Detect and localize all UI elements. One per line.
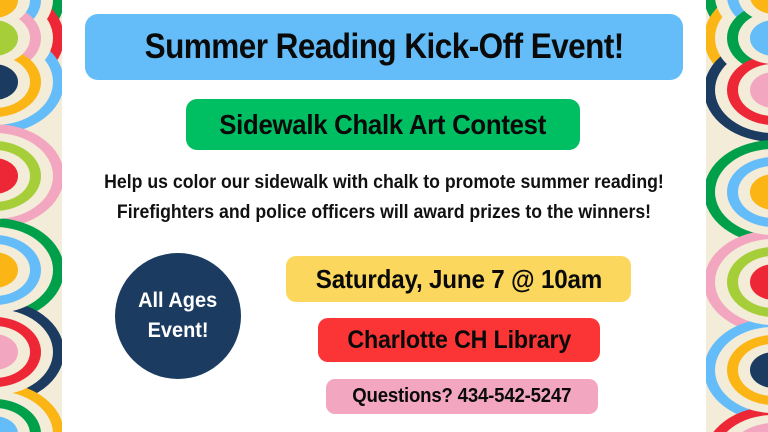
all-ages-badge-line-1: All Ages [138, 286, 217, 316]
event-title-text: Summer Reading Kick-Off Event! [144, 27, 623, 67]
description-line-1: Help us color our sidewalk with chalk to… [85, 168, 684, 198]
event-contact-text: Questions? 434-542-5247 [352, 385, 571, 408]
right-decorative-border [706, 0, 768, 432]
all-ages-badge-line-2: Event! [148, 316, 209, 346]
poster-content: Summer Reading Kick-Off Event! Sidewalk … [62, 0, 706, 432]
event-description: Help us color our sidewalk with chalk to… [62, 168, 706, 228]
poster-canvas: Summer Reading Kick-Off Event! Sidewalk … [0, 0, 768, 432]
event-subtitle-text: Sidewalk Chalk Art Contest [220, 109, 547, 141]
event-location-text: Charlotte CH Library [347, 326, 571, 355]
event-contact-banner: Questions? 434-542-5247 [326, 379, 598, 414]
event-date-banner: Saturday, June 7 @ 10am [286, 256, 631, 302]
event-location-banner: Charlotte CH Library [318, 318, 600, 362]
description-line-2: Firefighters and police officers will aw… [85, 198, 684, 228]
left-decorative-border [0, 0, 62, 432]
event-title-banner: Summer Reading Kick-Off Event! [85, 14, 683, 80]
event-date-text: Saturday, June 7 @ 10am [315, 264, 601, 295]
all-ages-badge: All Ages Event! [115, 253, 241, 379]
event-subtitle-banner: Sidewalk Chalk Art Contest [186, 99, 580, 150]
